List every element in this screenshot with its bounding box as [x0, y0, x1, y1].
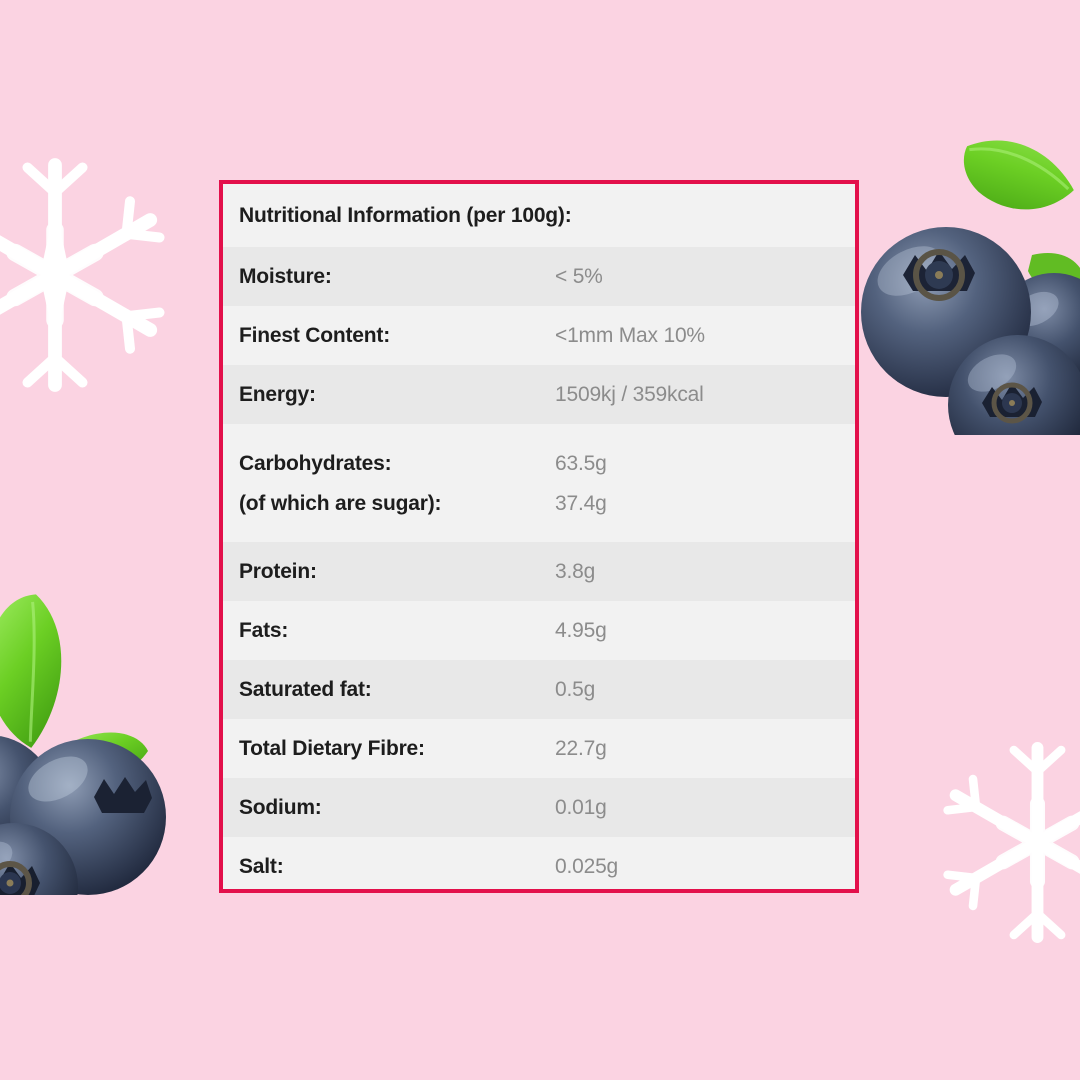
nutrient-value-cell: < 5%: [555, 266, 855, 288]
page-canvas: Nutritional Information (per 100g): Mois…: [0, 0, 1080, 1080]
nutrient-label-cell: Salt:: [239, 856, 555, 878]
table-row-total-dietary-fibre: Total Dietary Fibre: 22.7g: [223, 719, 855, 778]
nutrient-value-cell: 4.95g: [555, 620, 855, 642]
nutrient-value-cell: 3.8g: [555, 561, 855, 583]
table-row-sodium: Sodium: 0.01g: [223, 778, 855, 837]
nutrient-value: 0.025g: [555, 855, 618, 878]
nutrient-label: Moisture:: [239, 265, 332, 288]
nutrient-label-cell: Sodium:: [239, 797, 555, 819]
nutrient-label: Carbohydrates:: [239, 453, 555, 474]
nutrient-value-cell: 0.01g: [555, 797, 855, 819]
nutrient-label-cell: Total Dietary Fibre:: [239, 738, 555, 760]
nutrient-label: Energy:: [239, 383, 316, 406]
table-row-salt: Salt: 0.025g: [223, 837, 855, 893]
table-row-protein: Protein: 3.8g: [223, 542, 855, 601]
nutrient-value: 3.8g: [555, 560, 595, 583]
table-row-moisture: Moisture: < 5%: [223, 247, 855, 306]
nutrient-value-cell: 0.5g: [555, 679, 855, 701]
nutrient-value-cell: <1mm Max 10%: [555, 325, 855, 347]
table-row-finest-content: Finest Content: <1mm Max 10%: [223, 306, 855, 365]
table-row-saturated-fat: Saturated fat: 0.5g: [223, 660, 855, 719]
nutrition-table-title: Nutritional Information (per 100g):: [239, 204, 572, 228]
nutrient-label: Saturated fat:: [239, 678, 372, 701]
nutrient-subvalue-of-which-sugar: 37.4g: [555, 493, 855, 514]
nutrient-label-cell: Saturated fat:: [239, 679, 555, 701]
nutrient-label-cell: Protein:: [239, 561, 555, 583]
nutrient-label-cell: Finest Content:: [239, 325, 555, 347]
nutrient-value-cell: 22.7g: [555, 738, 855, 760]
nutrient-value-cell: 1509kj / 359kcal: [555, 384, 855, 406]
table-row-carbohydrates: Carbohydrates: (of which are sugar): 63.…: [223, 424, 855, 542]
nutrition-information-card: Nutritional Information (per 100g): Mois…: [219, 180, 859, 893]
nutrient-label: Sodium:: [239, 796, 322, 819]
nutrient-value: 4.95g: [555, 619, 607, 642]
nutrient-sublabel-of-which-sugar: (of which are sugar):: [239, 493, 555, 514]
table-row-energy: Energy: 1509kj / 359kcal: [223, 365, 855, 424]
nutrient-value: 1509kj / 359kcal: [555, 383, 704, 406]
nutrient-label: Fats:: [239, 619, 288, 642]
nutrient-label: Salt:: [239, 855, 284, 878]
leaf-shape: [953, 110, 1075, 236]
nutrient-label: Protein:: [239, 560, 317, 583]
nutrient-value-cell: 63.5g 37.4g: [555, 453, 855, 514]
blueberry-cluster-top-right: [836, 105, 1080, 435]
nutrient-label-cell: Moisture:: [239, 266, 555, 288]
nutrient-label: Total Dietary Fibre:: [239, 737, 425, 760]
nutrient-value-cell: 0.025g: [555, 856, 855, 878]
blueberry-cluster-bottom-left: [0, 575, 198, 895]
nutrient-label-cell: Fats:: [239, 620, 555, 642]
snowflake-icon-right: [930, 735, 1080, 950]
nutrient-label: Finest Content:: [239, 324, 390, 347]
snowflake-icon-left: [0, 150, 180, 400]
leaf-shape: [0, 588, 74, 751]
nutrition-table-header-row: Nutritional Information (per 100g):: [223, 184, 855, 247]
table-row-fats: Fats: 4.95g: [223, 601, 855, 660]
nutrient-value: 0.01g: [555, 796, 607, 819]
nutrient-label-cell: Energy:: [239, 384, 555, 406]
nutrient-value: 22.7g: [555, 737, 607, 760]
nutrient-value: < 5%: [555, 265, 603, 288]
nutrient-value: <1mm Max 10%: [555, 324, 705, 347]
nutrient-value: 0.5g: [555, 678, 595, 701]
nutrient-value: 63.5g: [555, 453, 855, 474]
nutrient-label-cell: Carbohydrates: (of which are sugar):: [239, 453, 555, 514]
